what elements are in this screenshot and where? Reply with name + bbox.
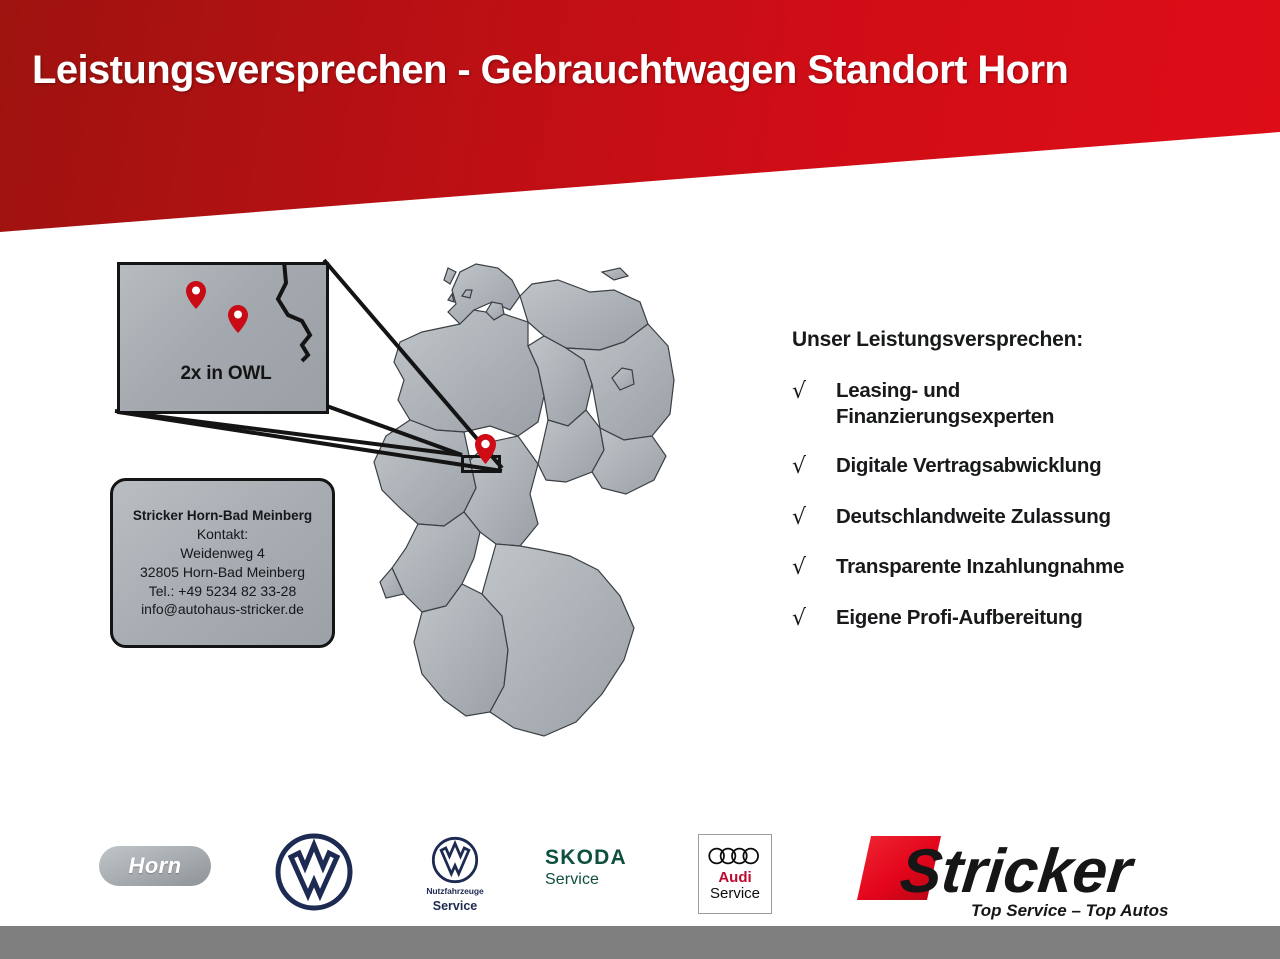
promise-item-1: √ Leasing- und Finanzierungsexperten [792, 378, 1232, 430]
contact-dealer-name: Stricker Horn-Bad Meinberg [133, 507, 312, 525]
location-pin-horn-bad-meinberg [475, 434, 496, 464]
skoda-service-label: Service [545, 871, 599, 889]
inset-state-border [258, 265, 328, 414]
promise-item-label: Leasing- und Finanzierungsexperten [836, 378, 1054, 430]
promise-item-label: Eigene Profi-Aufbereitung [836, 605, 1082, 631]
contact-phone[interactable]: Tel.: +49 5234 82 33-28 [149, 582, 297, 601]
location-pin-1 [186, 281, 206, 309]
check-icon: √ [792, 453, 836, 481]
footer-bar [0, 926, 1280, 959]
skoda-service-logo: SKODA Service [545, 846, 655, 889]
check-icon: √ [792, 378, 836, 406]
volkswagen-logo [275, 833, 353, 911]
stricker-logo: Stricker Top Service – Top Autos [845, 830, 1185, 922]
contact-email[interactable]: info@autohaus-stricker.de [141, 600, 304, 619]
volkswagen-icon [431, 836, 479, 884]
location-pin-2 [228, 305, 248, 333]
check-icon: √ [792, 504, 836, 532]
promise-item-label: Digitale Vertragsabwicklung [836, 453, 1101, 479]
skoda-wordmark: SKODA [545, 846, 627, 870]
audi-service-label: Service [710, 886, 760, 902]
contact-label: Kontakt: [197, 525, 248, 544]
germany-map [352, 250, 752, 770]
promise-item-4: √ Transparente Inzahlungnahme [792, 554, 1232, 582]
vw-nutzfahrzeuge-service-logo: Nutzfahrzeuge Service [412, 836, 498, 913]
contact-street: Weidenweg 4 [180, 544, 265, 563]
svg-text:Top Service – Top Autos: Top Service – Top Autos [971, 901, 1168, 920]
inset-map-label: 2x in OWL [120, 363, 329, 385]
horn-logo-label: Horn [129, 853, 182, 879]
promise-item-label: Deutschlandweite Zulassung [836, 504, 1111, 530]
promise-item-5: √ Eigene Profi-Aufbereitung [792, 605, 1232, 633]
promise-list-heading: Unser Leistungsversprechen: [792, 328, 1232, 352]
promise-item-3: √ Deutschlandweite Zulassung [792, 504, 1232, 532]
audi-wordmark: Audi [718, 870, 751, 886]
vw-service-label: Service [433, 899, 477, 913]
check-icon: √ [792, 605, 836, 633]
vw-nutzfahrzeuge-label: Nutzfahrzeuge [426, 886, 483, 896]
inset-map-owl: 2x in OWL [117, 262, 329, 414]
page-title: Leistungsversprechen - Gebrauchtwagen St… [32, 48, 1272, 92]
contact-card: Stricker Horn-Bad Meinberg Kontakt: Weid… [110, 478, 335, 648]
check-icon: √ [792, 554, 836, 582]
promise-item-label: Transparente Inzahlungnahme [836, 554, 1124, 580]
audi-rings-icon [707, 847, 763, 865]
promise-item-2: √ Digitale Vertragsabwicklung [792, 453, 1232, 481]
contact-city: 32805 Horn-Bad Meinberg [140, 563, 305, 582]
horn-logo: Horn [99, 846, 211, 886]
audi-service-logo: Audi Service [698, 834, 772, 914]
partner-logo-bar: Horn Nutzfahrzeuge Service SKODA Service [0, 824, 1280, 928]
svg-text:Stricker: Stricker [897, 837, 1139, 906]
promise-list: Unser Leistungsversprechen: √ Leasing- u… [792, 328, 1232, 655]
